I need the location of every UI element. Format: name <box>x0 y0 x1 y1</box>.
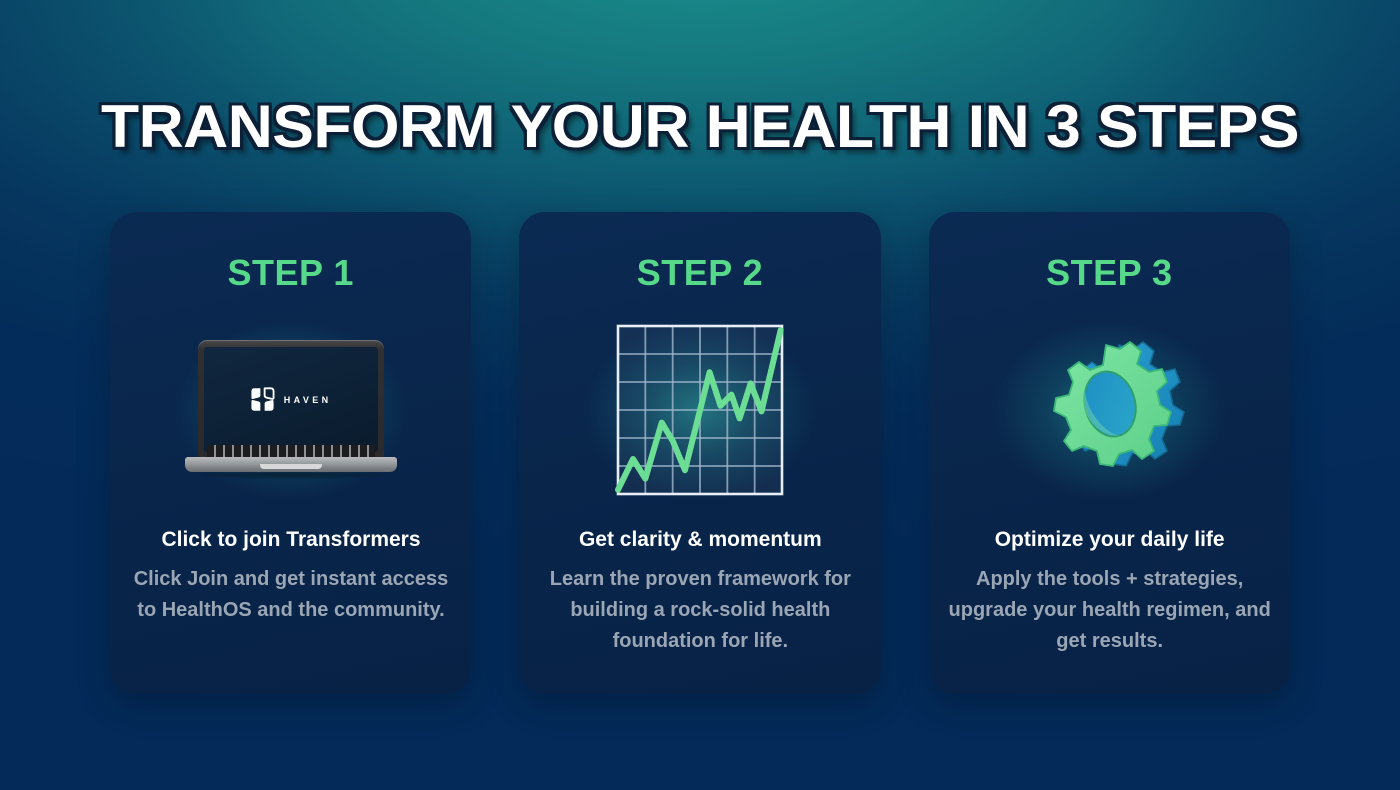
laptop-keyboard <box>207 445 375 457</box>
haven-logo-text: HAVEN <box>284 395 332 405</box>
step-icon-3-container <box>929 310 1290 510</box>
step-label-2: STEP 2 <box>519 252 880 294</box>
steps-card-row: STEP 1 <box>110 212 1290 694</box>
step-card-2[interactable]: STEP 2 Get clarity & momentum Learn the … <box>519 212 880 694</box>
haven-logo: HAVEN <box>250 387 332 412</box>
page-title: TRANSFORM YOUR HEALTH IN 3 STEPS <box>0 92 1400 161</box>
step-body-3: Apply the tools + strategies, upgrade yo… <box>945 564 1275 657</box>
step-title-2: Get clarity & momentum <box>537 527 863 553</box>
line-chart-icon <box>614 322 786 498</box>
laptop-screen: HAVEN <box>204 347 378 452</box>
step-title-3: Optimize your daily life <box>947 527 1273 553</box>
step-icon-2-container <box>519 310 880 510</box>
step-title-1: Click to join Transformers <box>128 527 454 553</box>
step-label-1: STEP 1 <box>110 252 471 294</box>
step-card-1[interactable]: STEP 1 <box>110 212 471 694</box>
step-label-3: STEP 3 <box>929 252 1290 294</box>
haven-logo-mark <box>250 387 275 412</box>
laptop-lid: HAVEN <box>198 340 384 458</box>
infographic-canvas: TRANSFORM YOUR HEALTH IN 3 STEPS STEP 1 <box>0 0 1400 790</box>
step-body-1: Click Join and get instant access to Hea… <box>126 564 456 626</box>
gear-icon <box>1023 322 1195 498</box>
laptop-base <box>185 457 397 472</box>
laptop-icon: HAVEN <box>185 340 397 480</box>
step-icon-1-container: HAVEN <box>110 310 471 510</box>
step-body-2: Learn the proven framework for building … <box>535 564 865 657</box>
step-card-3[interactable]: STEP 3 <box>929 212 1290 694</box>
